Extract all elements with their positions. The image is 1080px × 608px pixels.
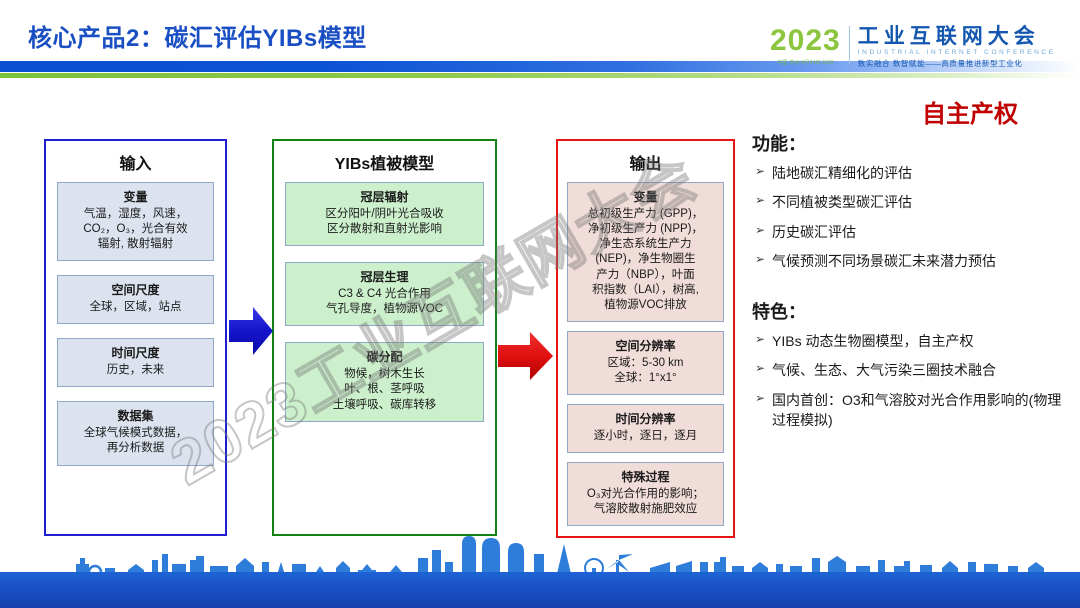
output-card-line: 气溶胶散射施肥效应 — [572, 502, 719, 517]
input-card-line: 全球，区域，站点 — [62, 300, 209, 315]
function-section-heading: 功能： — [752, 130, 1072, 156]
function-bullet-list: ➢陆地碳汇精细化的评估➢不同植被类型碳汇评估➢历史碳汇评估➢气候预测不同场景碳汇… — [752, 163, 1072, 271]
model-card-heading: 碳分配 — [290, 350, 479, 366]
bullet-arrow-icon: ➢ — [752, 222, 772, 242]
output-card-line: 积指数（LAI），树高, — [572, 283, 719, 298]
model-panel-title: YIBs植被模型 — [274, 150, 495, 174]
conference-logo: 2023 中国·苏州 8月14日-16日 工业互联网大会 INDUSTRIAL … — [770, 26, 1056, 70]
input-card: 数据集全球气候模式数据，再分析数据 — [57, 401, 214, 465]
feature-bullet-list: ➢YIBs 动态生物圈模型，自主产权➢气候、生态、大气污染三圈技术融合➢国内首创… — [752, 331, 1072, 430]
model-card: 冠层生理C3 & C4 光合作用气孔导度，植物源VOC — [285, 262, 484, 326]
function-bullet: ➢不同植被类型碳汇评估 — [752, 192, 1072, 212]
output-card-line: 逐小时，逐日，逐月 — [572, 429, 719, 444]
output-panel: 输出 变量总初级生产力 (GPP)，净初级生产力 (NPP)，净生态系统生产力(… — [556, 139, 735, 538]
output-card-line: 净生态系统生产力 — [572, 237, 719, 252]
output-card-list: 变量总初级生产力 (GPP)，净初级生产力 (NPP)，净生态系统生产力(NEP… — [558, 182, 733, 526]
output-card-line: 总初级生产力 (GPP)， — [572, 207, 719, 222]
output-card: 变量总初级生产力 (GPP)，净初级生产力 (NPP)，净生态系统生产力(NEP… — [567, 182, 724, 322]
output-card-line: 产力（NBP），叶面 — [572, 268, 719, 283]
bullet-arrow-icon: ➢ — [752, 331, 772, 351]
right-column: 功能： ➢陆地碳汇精细化的评估➢不同植被类型碳汇评估➢历史碳汇评估➢气候预测不同… — [752, 130, 1072, 439]
logo-year: 2023 — [770, 26, 841, 56]
page-title: 核心产品2：碳汇评估YIBs模型 — [28, 18, 367, 53]
function-bullet-label: 陆地碳汇精细化的评估 — [772, 163, 1072, 183]
logo-name-en: INDUSTRIAL INTERNET CONFERENCE — [858, 49, 1056, 56]
model-card-line: 区分阳叶/阴叶光合吸收 — [290, 207, 479, 222]
output-card-heading: 特殊过程 — [572, 470, 719, 486]
model-card-list: 冠层辐射区分阳叶/阴叶光合吸收区分散射和直射光影响冠层生理C3 & C4 光合作… — [274, 182, 495, 422]
bullet-arrow-icon: ➢ — [752, 192, 772, 212]
input-card-heading: 变量 — [62, 190, 209, 206]
bullet-arrow-icon: ➢ — [752, 390, 772, 431]
input-card-heading: 时间尺度 — [62, 346, 209, 362]
output-card-line: 区域：5-30 km — [572, 356, 719, 371]
input-card-line: 气温，湿度，风速， — [62, 207, 209, 222]
output-panel-title: 输出 — [558, 150, 733, 174]
output-card-line: O₃对光合作用的影响； — [572, 487, 719, 502]
logo-tagline: 数实融合 数智赋能——高质量推进新型工业化 — [858, 58, 1056, 69]
input-card: 空间尺度全球，区域，站点 — [57, 275, 214, 324]
output-card-line: 全球：1°x1° — [572, 371, 719, 386]
input-card: 时间尺度历史，未来 — [57, 338, 214, 387]
output-card-line: (NEP)，净生物圈生 — [572, 252, 719, 267]
output-card-heading: 变量 — [572, 190, 719, 206]
bullet-arrow-icon: ➢ — [752, 251, 772, 271]
feature-bullet-label: YIBs 动态生物圈模型，自主产权 — [772, 331, 1072, 351]
logo-year-subtitle: 中国·苏州 8月14日-16日 — [770, 59, 841, 66]
input-card-line: 辐射, 散射辐射 — [62, 237, 209, 252]
input-card-line: 全球气候模式数据， — [62, 426, 209, 441]
input-card: 变量气温，湿度，风速，CO₂，O₃，光合有效辐射, 散射辐射 — [57, 182, 214, 261]
model-card-line: 叶、根、茎呼吸 — [290, 382, 479, 397]
header-accent-bar-green — [0, 73, 1080, 78]
function-bullet: ➢气候预测不同场景碳汇未来潜力预估 — [752, 251, 1072, 271]
feature-bullet: ➢气候、生态、大气污染三圈技术融合 — [752, 360, 1072, 380]
output-card-heading: 时间分辨率 — [572, 412, 719, 428]
ip-title: 自主产权 — [922, 94, 1018, 129]
output-card-heading: 空间分辨率 — [572, 339, 719, 355]
feature-section-heading: 特色： — [752, 298, 1072, 324]
feature-bullet-label: 气候、生态、大气污染三圈技术融合 — [772, 360, 1072, 380]
logo-divider — [849, 26, 850, 64]
output-card-line: 净初级生产力 (NPP)， — [572, 222, 719, 237]
section-spacer — [752, 280, 1072, 298]
model-card: 冠层辐射区分阳叶/阴叶光合吸收区分散射和直射光影响 — [285, 182, 484, 246]
output-card: 空间分辨率区域：5-30 km全球：1°x1° — [567, 331, 724, 395]
feature-bullet: ➢国内首创：O3和气溶胶对光合作用影响的(物理过程模拟) — [752, 390, 1072, 431]
model-panel: YIBs植被模型 冠层辐射区分阳叶/阴叶光合吸收区分散射和直射光影响冠层生理C3… — [272, 139, 497, 536]
input-card-heading: 数据集 — [62, 409, 209, 425]
feature-bullet-label: 国内首创：O3和气溶胶对光合作用影响的(物理过程模拟) — [772, 390, 1072, 431]
function-bullet-label: 不同植被类型碳汇评估 — [772, 192, 1072, 212]
function-bullet-label: 历史碳汇评估 — [772, 222, 1072, 242]
function-bullet: ➢陆地碳汇精细化的评估 — [752, 163, 1072, 183]
output-card: 特殊过程O₃对光合作用的影响；气溶胶散射施肥效应 — [567, 462, 724, 526]
function-bullet-label: 气候预测不同场景碳汇未来潜力预估 — [772, 251, 1072, 271]
output-card-line: 植物源VOC排放 — [572, 298, 719, 313]
input-card-line: 再分析数据 — [62, 441, 209, 456]
input-card-heading: 空间尺度 — [62, 283, 209, 299]
model-card-line: C3 & C4 光合作用 — [290, 287, 479, 302]
input-panel: 输入 变量气温，湿度，风速，CO₂，O₃，光合有效辐射, 散射辐射空间尺度全球，… — [44, 139, 227, 536]
model-card-line: 物候，树木生长 — [290, 367, 479, 382]
model-card-line: 区分散射和直射光影响 — [290, 222, 479, 237]
input-card-list: 变量气温，湿度，风速，CO₂，O₃，光合有效辐射, 散射辐射空间尺度全球，区域，… — [46, 182, 225, 466]
model-card-line: 土壤呼吸、碳库转移 — [290, 398, 479, 413]
bullet-arrow-icon: ➢ — [752, 360, 772, 380]
feature-bullet: ➢YIBs 动态生物圈模型，自主产权 — [752, 331, 1072, 351]
bottom-blue-band — [0, 572, 1080, 608]
output-card: 时间分辨率逐小时，逐日，逐月 — [567, 404, 724, 453]
model-card-heading: 冠层生理 — [290, 270, 479, 286]
bullet-arrow-icon: ➢ — [752, 163, 772, 183]
logo-name-block: 工业互联网大会 INDUSTRIAL INTERNET CONFERENCE 数… — [858, 26, 1056, 69]
input-card-line: 历史，未来 — [62, 363, 209, 378]
flow-arrow-red — [497, 330, 555, 387]
logo-year-block: 2023 中国·苏州 8月14日-16日 — [770, 26, 849, 66]
logo-name-cn: 工业互联网大会 — [858, 26, 1056, 48]
function-bullet: ➢历史碳汇评估 — [752, 222, 1072, 242]
input-card-line: CO₂，O₃，光合有效 — [62, 222, 209, 237]
model-card-heading: 冠层辐射 — [290, 190, 479, 206]
model-card: 碳分配物候，树木生长叶、根、茎呼吸土壤呼吸、碳库转移 — [285, 342, 484, 421]
flow-arrow-blue — [228, 305, 274, 362]
input-panel-title: 输入 — [46, 150, 225, 174]
model-card-line: 气孔导度，植物源VOC — [290, 302, 479, 317]
